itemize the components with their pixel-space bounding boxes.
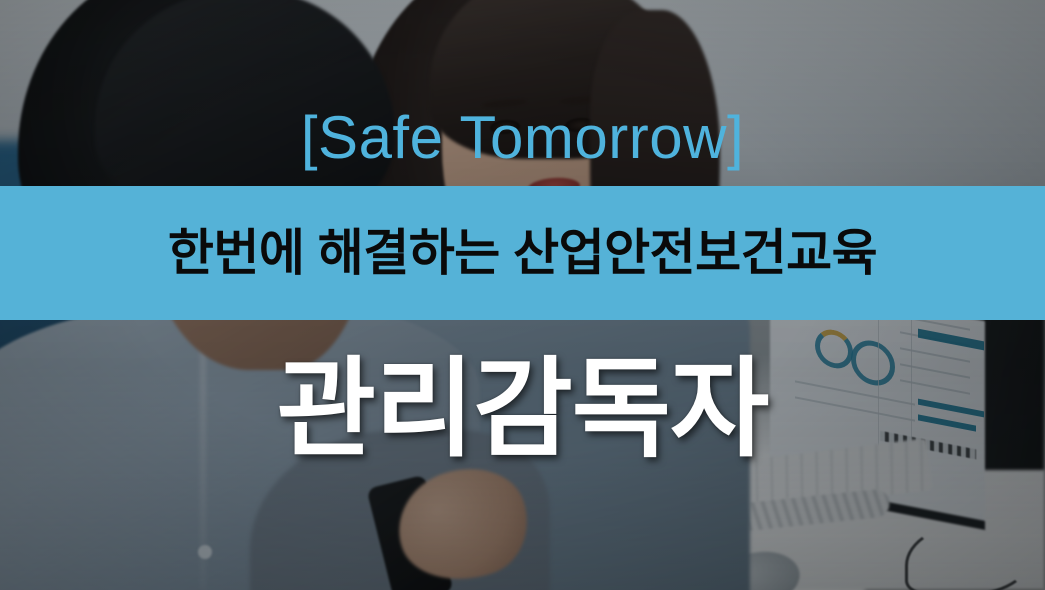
course-banner: [Safe Tomorrow] 한번에 해결하는 산업안전보건교육 관리감독자 xyxy=(0,0,1045,590)
band-subtitle: 한번에 해결하는 산업안전보건교육 xyxy=(168,228,877,278)
highlight-band: 한번에 해결하는 산업안전보건교육 xyxy=(0,186,1045,320)
headline-title: 관리감독자 xyxy=(0,355,1045,463)
eyebrow-text: [Safe Tomorrow] xyxy=(0,108,1045,168)
